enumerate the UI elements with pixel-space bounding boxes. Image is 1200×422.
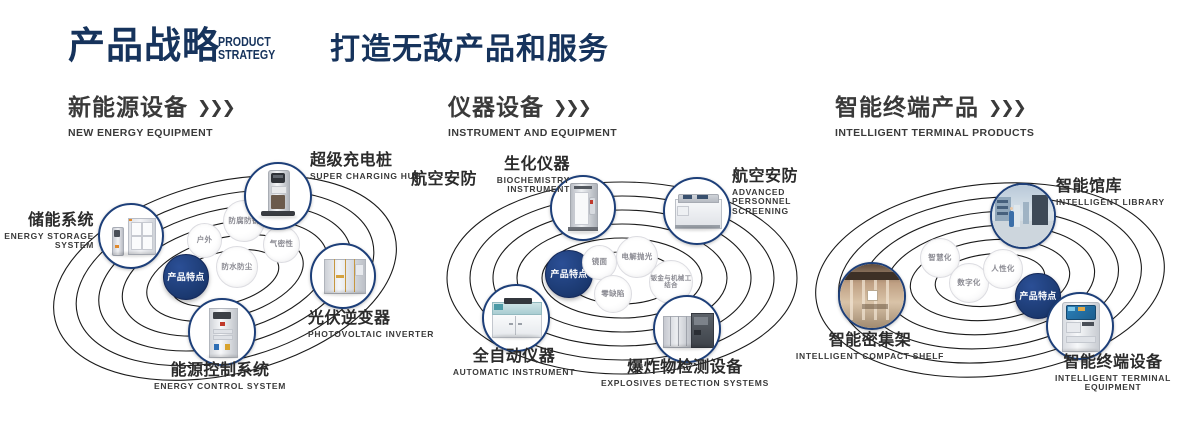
node-label-aviation-security-left: 航空安防 — [392, 171, 477, 189]
section-title-text: 新能源设备 — [68, 94, 188, 120]
node-label-en: AUTOMATIC INSTRUMENT — [424, 368, 604, 378]
feature-bubble-3: 人性化 — [983, 249, 1023, 289]
node-label-en: ENERGY STORAGE SYSTEM — [0, 232, 94, 251]
node-label-intelligent-library: 智能馆库 INTELLIGENT LIBRARY — [1056, 178, 1196, 207]
feature-core-label: 产品特点 — [167, 272, 204, 282]
pv-inverter-illustration — [312, 245, 374, 307]
section-title-text: 仪器设备 — [448, 94, 544, 120]
node-label-cn: 能源控制系统 — [120, 362, 320, 380]
product-node-pv-inverter[interactable] — [310, 243, 376, 309]
automatic-instrument-illustration — [484, 286, 548, 350]
cluster-instrument: 产品特点 镜面 电解抛光 零缺陷 钣金与机械工结合 生化仪器 BIOCHEMIS… — [410, 150, 830, 400]
node-label-cn: 全自动仪器 — [424, 348, 604, 366]
section-heading-new-energy: 新能源设备❯❯❯ NEW ENERGY EQUIPMENT — [68, 96, 234, 139]
feature-bubble-1: 户外 — [187, 223, 222, 258]
feature-label: 智慧化 — [928, 254, 951, 263]
product-node-compact-shelf[interactable] — [838, 262, 906, 330]
product-node-energy-control[interactable] — [188, 298, 256, 366]
node-label-terminal-equipment: 智能终端设备 INTELLIGENT TERMINAL EQUIPMENT — [1028, 354, 1198, 393]
page-title-cn: 产品战略 — [68, 27, 220, 64]
energy-control-illustration — [190, 300, 254, 364]
feature-label: 防水防尘 — [221, 263, 252, 272]
feature-bubble-3: 零缺陷 — [594, 275, 632, 313]
page-header: 产品战略 PRODUCT STRATEGY 打造无敌产品和服务 — [0, 0, 1200, 90]
feature-label: 电解抛光 — [621, 253, 652, 262]
personnel-screening-illustration — [665, 179, 729, 243]
feature-core-bubble: 产品特点 — [163, 254, 209, 300]
node-label-cn: 智能密集架 — [780, 332, 960, 350]
product-node-charging-hub[interactable] — [244, 162, 312, 230]
node-label-en: INTELLIGENT LIBRARY — [1056, 198, 1196, 208]
explosives-detection-illustration — [655, 297, 719, 361]
node-label-energy-storage: 储能系统 ENERGY STORAGE SYSTEM — [0, 212, 94, 251]
node-label-en: EXPLOSIVES DETECTION SYSTEMS — [585, 379, 785, 389]
page-title-en: PRODUCT STRATEGY — [218, 35, 275, 61]
chevron-right-icon: ❯❯❯ — [553, 99, 590, 116]
node-label-cn: 爆炸物检测设备 — [585, 359, 785, 377]
product-node-terminal-equipment[interactable] — [1046, 292, 1114, 360]
feature-label: 数字化 — [957, 279, 980, 288]
section-title-en: NEW ENERGY EQUIPMENT — [68, 127, 234, 139]
section-title-en: INTELLIGENT TERMINAL PRODUCTS — [835, 127, 1034, 139]
node-label-cn: 储能系统 — [0, 212, 94, 230]
node-label-cn: 航空安防 — [392, 171, 477, 189]
product-node-explosives-detection[interactable] — [653, 295, 721, 363]
node-label-en: ENERGY CONTROL SYSTEM — [120, 382, 320, 392]
node-label-cn: 智能终端设备 — [1028, 354, 1198, 372]
energy-storage-illustration — [100, 205, 162, 267]
section-heading-intelligent: 智能终端产品❯❯❯ INTELLIGENT TERMINAL PRODUCTS — [835, 96, 1034, 139]
section-title-cn: 新能源设备❯❯❯ — [68, 96, 234, 119]
feature-label: 镜面 — [592, 258, 608, 267]
chevron-right-icon: ❯❯❯ — [988, 99, 1025, 116]
charging-hub-illustration — [246, 164, 310, 228]
feature-label: 人性化 — [991, 265, 1014, 274]
cluster-intelligent: 智慧化 数字化 人性化 产品特点 智能馆库 INTELLIGENT LIBRAR… — [790, 150, 1200, 400]
feature-label: 钣金与机械工结合 — [650, 275, 692, 290]
node-label-compact-shelf: 智能密集架 INTELLIGENT COMPACT SHELF — [780, 332, 960, 361]
feature-core-label: 产品特点 — [550, 269, 587, 279]
section-title-cn: 仪器设备❯❯❯ — [448, 96, 617, 119]
feature-bubble-3: 防水防尘 — [216, 246, 258, 288]
cluster-new-energy: 产品特点 户外 防腐防锈 防水防尘 气密性 储能系统 ENERGY STORAG… — [20, 150, 440, 400]
chevron-right-icon: ❯❯❯ — [197, 99, 234, 116]
feature-label: 户外 — [197, 236, 213, 245]
terminal-equipment-illustration — [1048, 294, 1112, 358]
product-node-personnel-screening[interactable] — [663, 177, 731, 245]
intelligent-library-illustration — [992, 185, 1054, 247]
feature-label: 气密性 — [270, 240, 293, 249]
page-headline: 打造无敌产品和服务 — [330, 32, 609, 68]
product-node-automatic-instrument[interactable] — [482, 284, 550, 352]
node-label-explosives-detection: 爆炸物检测设备 EXPLOSIVES DETECTION SYSTEMS — [585, 359, 785, 388]
compact-shelf-illustration — [840, 264, 904, 328]
node-label-cn: 智能馆库 — [1056, 178, 1196, 196]
product-node-energy-storage[interactable] — [98, 203, 164, 269]
node-label-en: INTELLIGENT TERMINAL EQUIPMENT — [1028, 374, 1198, 393]
node-label-automatic-instrument: 全自动仪器 AUTOMATIC INSTRUMENT — [424, 348, 604, 377]
node-label-energy-control: 能源控制系统 ENERGY CONTROL SYSTEM — [120, 362, 320, 391]
section-title-en: INSTRUMENT AND EQUIPMENT — [448, 127, 617, 139]
product-node-intelligent-library[interactable] — [990, 183, 1056, 249]
page-title-en-line2: STRATEGY — [218, 48, 275, 61]
section-title-cn: 智能终端产品❯❯❯ — [835, 96, 1034, 119]
feature-label: 零缺陷 — [601, 290, 624, 299]
section-title-text: 智能终端产品 — [835, 94, 979, 120]
node-label-en: INTELLIGENT COMPACT SHELF — [780, 352, 960, 362]
feature-bubble-4: 气密性 — [263, 226, 300, 263]
section-heading-instrument: 仪器设备❯❯❯ INSTRUMENT AND EQUIPMENT — [448, 96, 617, 139]
